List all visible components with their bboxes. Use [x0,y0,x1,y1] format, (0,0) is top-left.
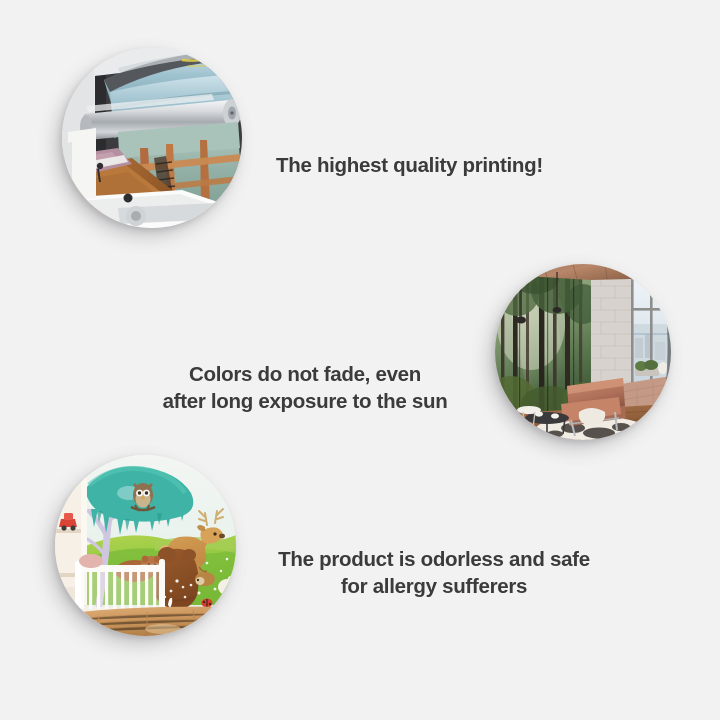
caption-colors-do-not-fade: Colors do not fade, even after long expo… [140,361,470,415]
promo-canvas: The highest quality printing! [0,0,720,720]
nursery-mural-illustration [55,455,236,636]
printing-press-photo [62,48,242,228]
printing-press-illustration [62,48,242,228]
caption-odorless-and-safe: The product is odorless and safe for all… [264,546,604,600]
nursery-mural-photo [55,455,236,636]
forest-room-illustration [495,264,671,440]
forest-room-photo [495,264,671,440]
caption-highest-quality-printing: The highest quality printing! [276,152,543,179]
